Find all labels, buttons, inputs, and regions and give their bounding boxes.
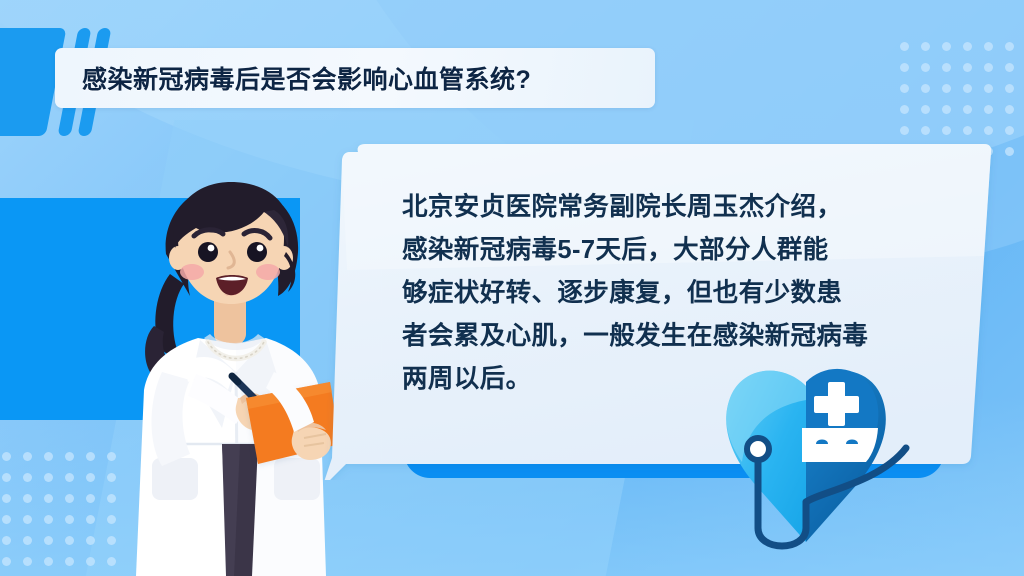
decor-dot [86, 536, 95, 545]
decor-dot [963, 126, 972, 135]
decor-dot [107, 494, 116, 503]
decor-dot [86, 557, 95, 566]
nurse-cap [806, 369, 878, 428]
decor-dot [963, 105, 972, 114]
decor-dot [2, 515, 11, 524]
stethoscope-bell [747, 438, 769, 460]
decor-dot [65, 452, 74, 461]
infographic-canvas: 感染新冠病毒后是否会影响心血管系统? [0, 0, 1024, 576]
decor-dot [107, 473, 116, 482]
decor-dot [2, 452, 11, 461]
decor-dot [65, 536, 74, 545]
decor-dot [86, 494, 95, 503]
heart-medical-icon [700, 352, 980, 576]
decor-dot [900, 63, 909, 72]
decor-dot [921, 126, 930, 135]
decor-dot [44, 536, 53, 545]
decor-dot [44, 473, 53, 482]
decor-dot [900, 84, 909, 93]
decor-dot [942, 105, 951, 114]
decor-dot [963, 84, 972, 93]
decor-dot [65, 515, 74, 524]
decor-dot [65, 557, 74, 566]
decor-dot [942, 84, 951, 93]
decor-dot [963, 42, 972, 51]
decor-dot [921, 42, 930, 51]
decor-dot [921, 84, 930, 93]
decor-dot [107, 536, 116, 545]
decor-dot [23, 557, 32, 566]
decor-dot [23, 494, 32, 503]
decor-dot [1005, 63, 1014, 72]
decor-dot [984, 42, 993, 51]
decor-dot [44, 494, 53, 503]
decor-dot [44, 557, 53, 566]
decor-dot [23, 515, 32, 524]
decor-dot [900, 105, 909, 114]
decor-dot [984, 84, 993, 93]
decor-dot [942, 63, 951, 72]
bubble-line: 北京安贞医院常务副院长周玉杰介绍， [402, 186, 962, 229]
decor-dot [921, 105, 930, 114]
decor-dot [984, 126, 993, 135]
decor-dot [107, 452, 116, 461]
decor-dot [2, 557, 11, 566]
title-plate: 感染新冠病毒后是否会影响心血管系统? [55, 48, 655, 108]
decor-dot [1005, 42, 1014, 51]
decor-dot [65, 473, 74, 482]
decor-dot [23, 536, 32, 545]
decor-dot [1005, 126, 1014, 135]
decor-dot [984, 105, 993, 114]
decor-dot [44, 515, 53, 524]
decor-dot [963, 63, 972, 72]
decor-dot [65, 494, 74, 503]
bubble-line: 够症状好转、逐步康复，但也有少数患 [402, 272, 962, 315]
decor-dot [2, 473, 11, 482]
decor-dot [942, 42, 951, 51]
face-mask [802, 428, 878, 462]
decor-dot [2, 536, 11, 545]
bubble-line: 感染新冠病毒5-7天后，大部分人群能 [402, 229, 962, 272]
decor-dot [900, 42, 909, 51]
decor-dot [107, 557, 116, 566]
decor-dot [1005, 105, 1014, 114]
decor-dot [900, 126, 909, 135]
page-title: 感染新冠病毒后是否会影响心血管系统? [82, 60, 531, 96]
decor-dot [86, 473, 95, 482]
decor-dot [1005, 84, 1014, 93]
decor-dot [2, 494, 11, 503]
decor-dot [107, 515, 116, 524]
decor-dot [44, 452, 53, 461]
decor-dot [86, 515, 95, 524]
decor-dot [86, 452, 95, 461]
decor-dot [921, 63, 930, 72]
decor-dot [942, 126, 951, 135]
decor-dot [23, 473, 32, 482]
decor-dot [23, 452, 32, 461]
decor-dot [984, 63, 993, 72]
